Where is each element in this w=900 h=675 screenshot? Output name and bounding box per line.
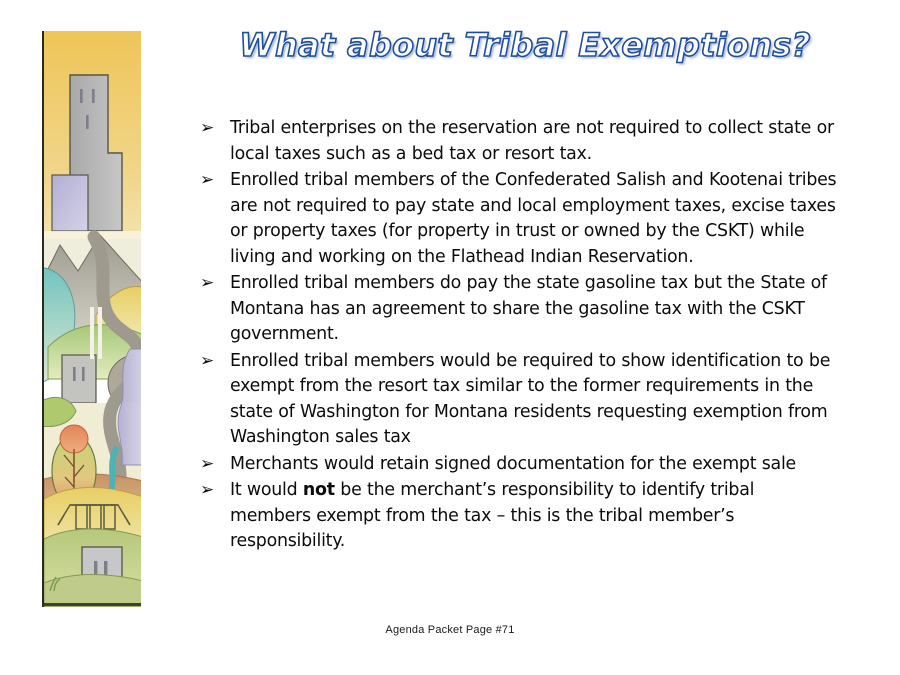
- list-item-text: Tribal enterprises on the reservation ar…: [230, 116, 840, 167]
- arrow-bullet-icon: ➢: [200, 271, 230, 297]
- footer-page-note: Agenda Packet Page #71: [0, 624, 900, 636]
- list-item-text: Merchants would retain signed documentat…: [230, 452, 840, 478]
- landscape-artwork-svg: [44, 31, 141, 607]
- decorative-landscape-illustration: [42, 31, 141, 607]
- list-item: ➢ Enrolled tribal members of the Confede…: [200, 168, 840, 270]
- list-item-text: It would not be the merchant’s responsib…: [230, 478, 840, 555]
- list-item: ➢ Enrolled tribal members would be requi…: [200, 349, 840, 451]
- list-item-text: Enrolled tribal members do pay the state…: [230, 271, 840, 348]
- arrow-bullet-icon: ➢: [200, 452, 230, 478]
- list-item-text: Enrolled tribal members of the Confedera…: [230, 168, 840, 270]
- title-block: What about Tribal Exemptions?: [175, 22, 875, 78]
- list-item: ➢ Merchants would retain signed document…: [200, 452, 840, 478]
- arrow-bullet-icon: ➢: [200, 478, 230, 504]
- list-item: ➢ Tribal enterprises on the reservation …: [200, 116, 840, 167]
- arrow-bullet-icon: ➢: [200, 168, 230, 194]
- arrow-bullet-icon: ➢: [200, 116, 230, 142]
- list-item-text: Enrolled tribal members would be require…: [230, 349, 840, 451]
- page-title: What about Tribal Exemptions?: [239, 22, 810, 68]
- arrow-bullet-icon: ➢: [200, 349, 230, 375]
- bullet-list: ➢ Tribal enterprises on the reservation …: [200, 116, 840, 556]
- list-item: ➢ Enrolled tribal members do pay the sta…: [200, 271, 840, 348]
- list-item: ➢ It would not be the merchant’s respons…: [200, 478, 840, 555]
- slide-canvas: What about Tribal Exemptions? ➢ Tribal e…: [0, 0, 900, 675]
